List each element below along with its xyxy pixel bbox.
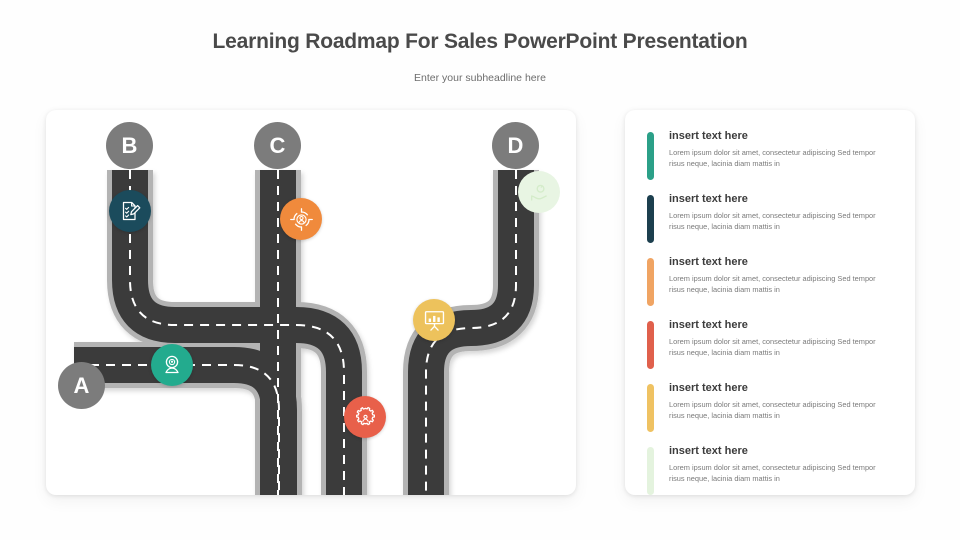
location-pin-icon [160,353,184,377]
gear-person-icon [353,405,378,430]
list-item-title: insert text here [669,319,748,331]
slide-canvas: Learning Roadmap For Sales PowerPoint Pr… [0,0,960,540]
list-item-title: insert text here [669,382,748,394]
accent-bar [647,321,654,369]
list-item-title: insert text here [669,130,748,142]
milestone-handshake[interactable] [518,171,560,213]
milestone-gear-person[interactable] [344,396,386,438]
stage-marker-c[interactable]: C [254,122,301,169]
accent-bar [647,447,654,495]
document-pen-icon [118,199,142,223]
list-item[interactable]: insert text here Lorem ipsum dolor sit a… [647,258,897,310]
stage-label: A [74,375,90,397]
milestone-presentation[interactable] [413,299,455,341]
handshake-icon [527,180,552,205]
list-item[interactable]: insert text here Lorem ipsum dolor sit a… [647,132,897,184]
milestone-location-pin[interactable] [151,344,193,386]
accent-bar [647,132,654,180]
list-item-description: Lorem ipsum dolor sit amet, consectetur … [669,463,891,484]
list-item[interactable]: insert text here Lorem ipsum dolor sit a… [647,195,897,247]
target-person-icon [289,207,314,232]
list-item-title: insert text here [669,256,748,268]
list-item-description: Lorem ipsum dolor sit amet, consectetur … [669,274,891,295]
list-item-description: Lorem ipsum dolor sit amet, consectetur … [669,211,891,232]
list-item-title: insert text here [669,193,748,205]
page-title: Learning Roadmap For Sales PowerPoint Pr… [0,30,960,54]
stage-marker-b[interactable]: B [106,122,153,169]
milestone-target-person[interactable] [280,198,322,240]
milestone-document-pen[interactable] [109,190,151,232]
list-item-title: insert text here [669,445,748,457]
list-item[interactable]: insert text here Lorem ipsum dolor sit a… [647,384,897,436]
accent-bar [647,384,654,432]
stage-label: C [270,135,286,157]
accent-bar [647,258,654,306]
list-item-description: Lorem ipsum dolor sit amet, consectetur … [669,148,891,169]
roadmap-card: A B C D [46,110,576,495]
list-item-description: Lorem ipsum dolor sit amet, consectetur … [669,400,891,421]
list-item-description: Lorem ipsum dolor sit amet, consectetur … [669,337,891,358]
list-item[interactable]: insert text here Lorem ipsum dolor sit a… [647,447,897,499]
stage-marker-a[interactable]: A [58,362,105,409]
text-list-card: insert text here Lorem ipsum dolor sit a… [625,110,915,495]
stage-label: D [508,135,524,157]
presentation-icon [422,308,447,333]
stage-label: B [122,135,138,157]
list-item[interactable]: insert text here Lorem ipsum dolor sit a… [647,321,897,373]
stage-marker-d[interactable]: D [492,122,539,169]
page-subtitle: Enter your subheadline here [0,72,960,84]
accent-bar [647,195,654,243]
